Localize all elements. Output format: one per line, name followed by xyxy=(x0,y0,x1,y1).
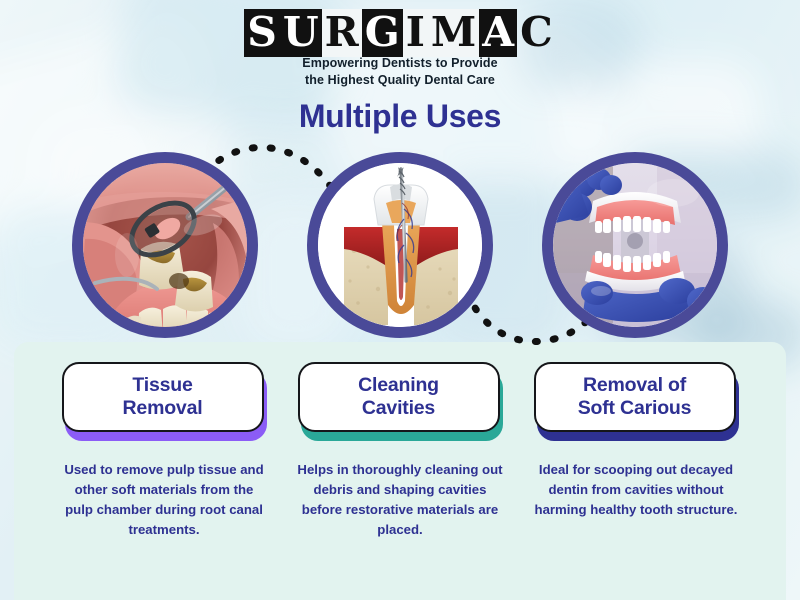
cards-row: Tissue Removal Used to remove pulp tissu… xyxy=(0,362,800,540)
card-box[interactable]: Cleaning Cavities xyxy=(298,362,503,434)
card-face[interactable]: Removal of Soft Carious xyxy=(534,362,736,432)
tagline-line-1: Empowering Dentists to Provide xyxy=(0,55,800,72)
card-tissue-removal: Tissue Removal Used to remove pulp tissu… xyxy=(57,362,272,540)
card-title-line-2: Soft Carious xyxy=(578,397,692,420)
card-title-line-1: Removal of xyxy=(578,374,692,397)
card-title-line-2: Cavities xyxy=(358,397,439,420)
dental-model-icon xyxy=(553,163,717,327)
card-title-line-1: Cleaning xyxy=(358,374,439,397)
logo-letter-c: C xyxy=(517,9,556,57)
brand-tagline: Empowering Dentists to Provide the Highe… xyxy=(0,55,800,89)
infographic-poster: SURGIMAC Empowering Dentists to Provide … xyxy=(0,0,800,600)
card-face[interactable]: Cleaning Cavities xyxy=(298,362,500,432)
logo-letter-i: I xyxy=(403,9,428,57)
card-title-line-2: Removal xyxy=(123,397,203,420)
card-title-line-1: Tissue xyxy=(123,374,203,397)
card-description: Ideal for scooping out decayed dentin fr… xyxy=(532,460,740,520)
card-removal-of-soft-carious: Removal of Soft Carious Ideal for scoopi… xyxy=(529,362,744,540)
card-face[interactable]: Tissue Removal xyxy=(62,362,264,432)
logo-letter-r: R xyxy=(322,9,362,57)
brand-logo-text: SURGIMAC xyxy=(244,9,556,57)
logo-letter-m: M xyxy=(428,9,479,57)
card-title: Removal of Soft Carious xyxy=(578,374,692,420)
logo-letter-s: S xyxy=(244,9,280,57)
card-box[interactable]: Tissue Removal xyxy=(62,362,267,434)
logo-letter-u: U xyxy=(280,9,322,57)
card-description: Helps in thoroughly cleaning out debris … xyxy=(296,460,504,540)
image-circle-intraoral-photo xyxy=(72,152,258,338)
image-circle-tooth-cross-section xyxy=(307,152,493,338)
card-box[interactable]: Removal of Soft Carious xyxy=(534,362,739,434)
card-title: Cleaning Cavities xyxy=(358,374,439,420)
tagline-line-2: the Highest Quality Dental Care xyxy=(0,72,800,89)
logo-letter-a: A xyxy=(479,9,517,57)
image-circle-dental-model xyxy=(542,152,728,338)
brand-logo: SURGIMAC xyxy=(0,9,800,57)
card-cleaning-cavities: Cleaning Cavities Helps in thoroughly cl… xyxy=(293,362,508,540)
tooth-cross-section-icon xyxy=(318,163,482,327)
intraoral-photo-icon xyxy=(83,163,247,327)
logo-letter-g: G xyxy=(362,9,403,57)
card-description: Used to remove pulp tissue and other sof… xyxy=(60,460,268,540)
card-title: Tissue Removal xyxy=(123,374,203,420)
page-title: Multiple Uses xyxy=(0,98,800,135)
